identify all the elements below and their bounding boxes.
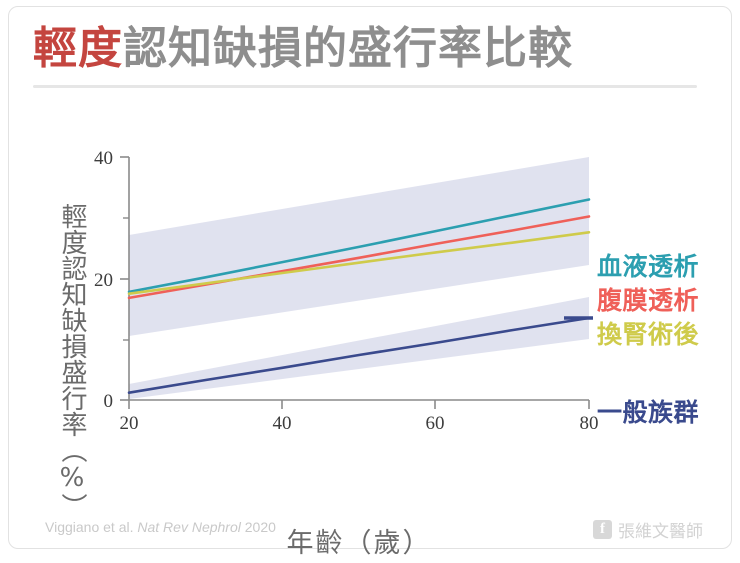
series-line-general bbox=[129, 318, 589, 393]
y-tick-label-0: 0 bbox=[104, 391, 114, 412]
x-tick-label-80: 80 bbox=[580, 413, 599, 434]
title-block: 輕度認知缺損的盛行率比較 bbox=[33, 19, 701, 83]
slide-card: 輕度認知缺損的盛行率比較 輕度認知缺損盛行率（%） 年齡（歲） bbox=[8, 6, 732, 549]
citation-year: 2020 bbox=[245, 519, 276, 535]
page-title: 輕度認知缺損的盛行率比較 bbox=[33, 19, 701, 79]
x-tick-label-60: 60 bbox=[426, 413, 445, 434]
citation-author: Viggiano et al. bbox=[45, 519, 133, 535]
watermark: f 張維文醫師 bbox=[593, 517, 703, 542]
title-divider bbox=[33, 85, 697, 88]
title-highlight: 輕度 bbox=[33, 23, 123, 74]
citation: Viggiano et al. Nat Rev Nephrol 2020 bbox=[45, 519, 276, 535]
legend-item-general[interactable]: 一般族群 bbox=[597, 393, 699, 429]
legend-item-transplant[interactable]: 換腎術後 bbox=[597, 315, 699, 351]
y-tick-label-20: 20 bbox=[94, 270, 113, 291]
x-tick-label-40: 40 bbox=[273, 413, 292, 434]
facebook-icon: f bbox=[593, 520, 612, 539]
legend-item-peritoneal[interactable]: 腹膜透析 bbox=[597, 281, 699, 317]
watermark-text: 張維文醫師 bbox=[618, 517, 703, 542]
legend-item-hemodialysis[interactable]: 血液透析 bbox=[597, 247, 699, 283]
chart-area: 輕度認知缺損盛行率（%） 年齡（歲） 40 20 0 bbox=[9, 99, 733, 479]
x-tick-label-20: 20 bbox=[120, 413, 139, 434]
y-tick-label-40: 40 bbox=[94, 148, 113, 169]
title-rest: 認知缺損的盛行率比較 bbox=[123, 23, 573, 74]
citation-journal: Nat Rev Nephrol bbox=[137, 519, 241, 535]
